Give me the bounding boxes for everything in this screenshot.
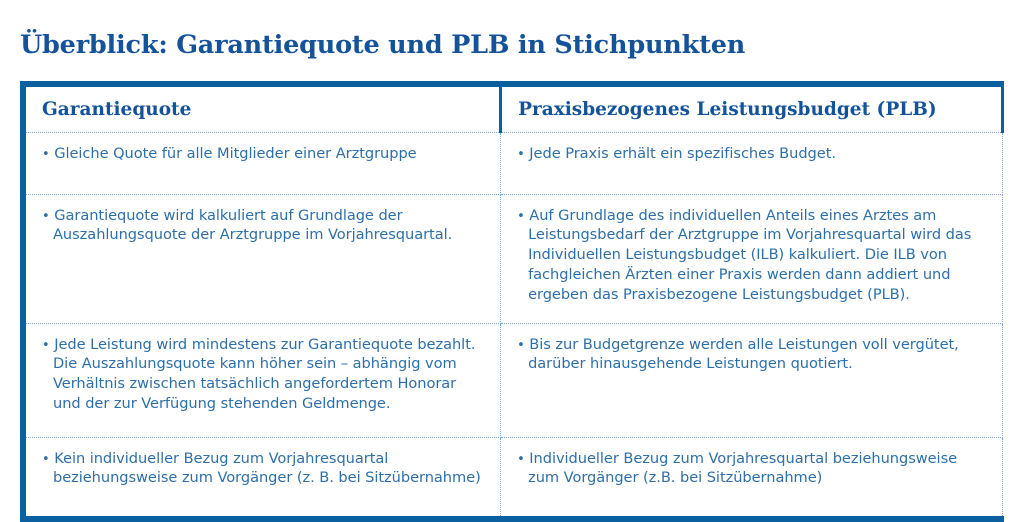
page-root: Überblick: Garantiequote und PLB in Stic… [0, 0, 1024, 448]
cell-garantiequote-1: • Gleiche Quote für alle Mitglieder eine… [26, 132, 501, 194]
bullet-item: • Bis zur Budgetgrenze werden alle Leist… [517, 335, 986, 375]
column-header-plb: Praxisbezogenes Leistungsbudget (PLB) [501, 87, 1003, 132]
bullet-item-text: Jede Praxis erhält ein spezifisches Budg… [529, 145, 836, 162]
bullet-item: • Jede Leistung wird mindestens zur Gara… [42, 335, 484, 414]
bullet-icon: • [42, 147, 50, 162]
bullet-icon: • [517, 338, 525, 353]
table-row: • Jede Leistung wird mindestens zur Gara… [26, 323, 1003, 437]
cell-garantiequote-2: • Garantiequote wird kalkuliert auf Grun… [26, 194, 501, 323]
table-header-row: Garantiequote Praxisbezogenes Leistungsb… [26, 87, 1003, 132]
cell-plb-2: • Auf Grundlage des individuellen Anteil… [501, 194, 1003, 323]
bullet-item-text: Kein individueller Bezug zum Vorjahresqu… [53, 450, 481, 487]
bullet-item-text: Jede Leistung wird mindestens zur Garant… [53, 336, 475, 413]
bullet-icon: • [517, 452, 525, 467]
bullet-item: • Individueller Bezug zum Vorjahresquart… [517, 449, 986, 489]
bullet-item-text: Gleiche Quote für alle Mitglieder einer … [54, 145, 416, 162]
bullet-icon: • [42, 338, 50, 353]
bullet-item-text: Individueller Bezug zum Vorjahresquartal… [528, 450, 957, 487]
cell-garantiequote-3: • Jede Leistung wird mindestens zur Gara… [26, 323, 501, 437]
column-header-garantiequote: Garantiequote [26, 87, 501, 132]
table-row: • Gleiche Quote für alle Mitglieder eine… [26, 132, 1003, 194]
bullet-icon: • [517, 147, 525, 162]
comparison-table: Garantiequote Praxisbezogenes Leistungsb… [26, 87, 1004, 516]
table-row: • Kein individueller Bezug zum Vorjahres… [26, 437, 1003, 516]
cell-plb-4: • Individueller Bezug zum Vorjahresquart… [501, 437, 1003, 516]
bullet-item: • Garantiequote wird kalkuliert auf Grun… [42, 206, 484, 246]
page-title: Überblick: Garantiequote und PLB in Stic… [20, 0, 1004, 59]
bullet-item-text: Garantiequote wird kalkuliert auf Grundl… [53, 207, 452, 244]
bullet-item: • Auf Grundlage des individuellen Anteil… [517, 206, 986, 305]
comparison-table-frame: Garantiequote Praxisbezogenes Leistungsb… [20, 81, 1004, 522]
table-row: • Garantiequote wird kalkuliert auf Grun… [26, 194, 1003, 323]
cell-plb-1: • Jede Praxis erhält ein spezifisches Bu… [501, 132, 1003, 194]
bullet-icon: • [42, 209, 50, 224]
table-header: Garantiequote Praxisbezogenes Leistungsb… [26, 87, 1003, 132]
bullet-icon: • [517, 209, 525, 224]
bullet-item: • Jede Praxis erhält ein spezifisches Bu… [517, 144, 986, 164]
bullet-item-text: Auf Grundlage des individuellen Anteils … [528, 207, 971, 303]
bullet-item: • Gleiche Quote für alle Mitglieder eine… [42, 144, 484, 164]
cell-garantiequote-4: • Kein individueller Bezug zum Vorjahres… [26, 437, 501, 516]
bullet-item-text: Bis zur Budgetgrenze werden alle Leistun… [528, 336, 959, 373]
table-body: • Gleiche Quote für alle Mitglieder eine… [26, 132, 1003, 516]
bullet-icon: • [42, 452, 50, 467]
cell-plb-3: • Bis zur Budgetgrenze werden alle Leist… [501, 323, 1003, 437]
bullet-item: • Kein individueller Bezug zum Vorjahres… [42, 449, 484, 489]
